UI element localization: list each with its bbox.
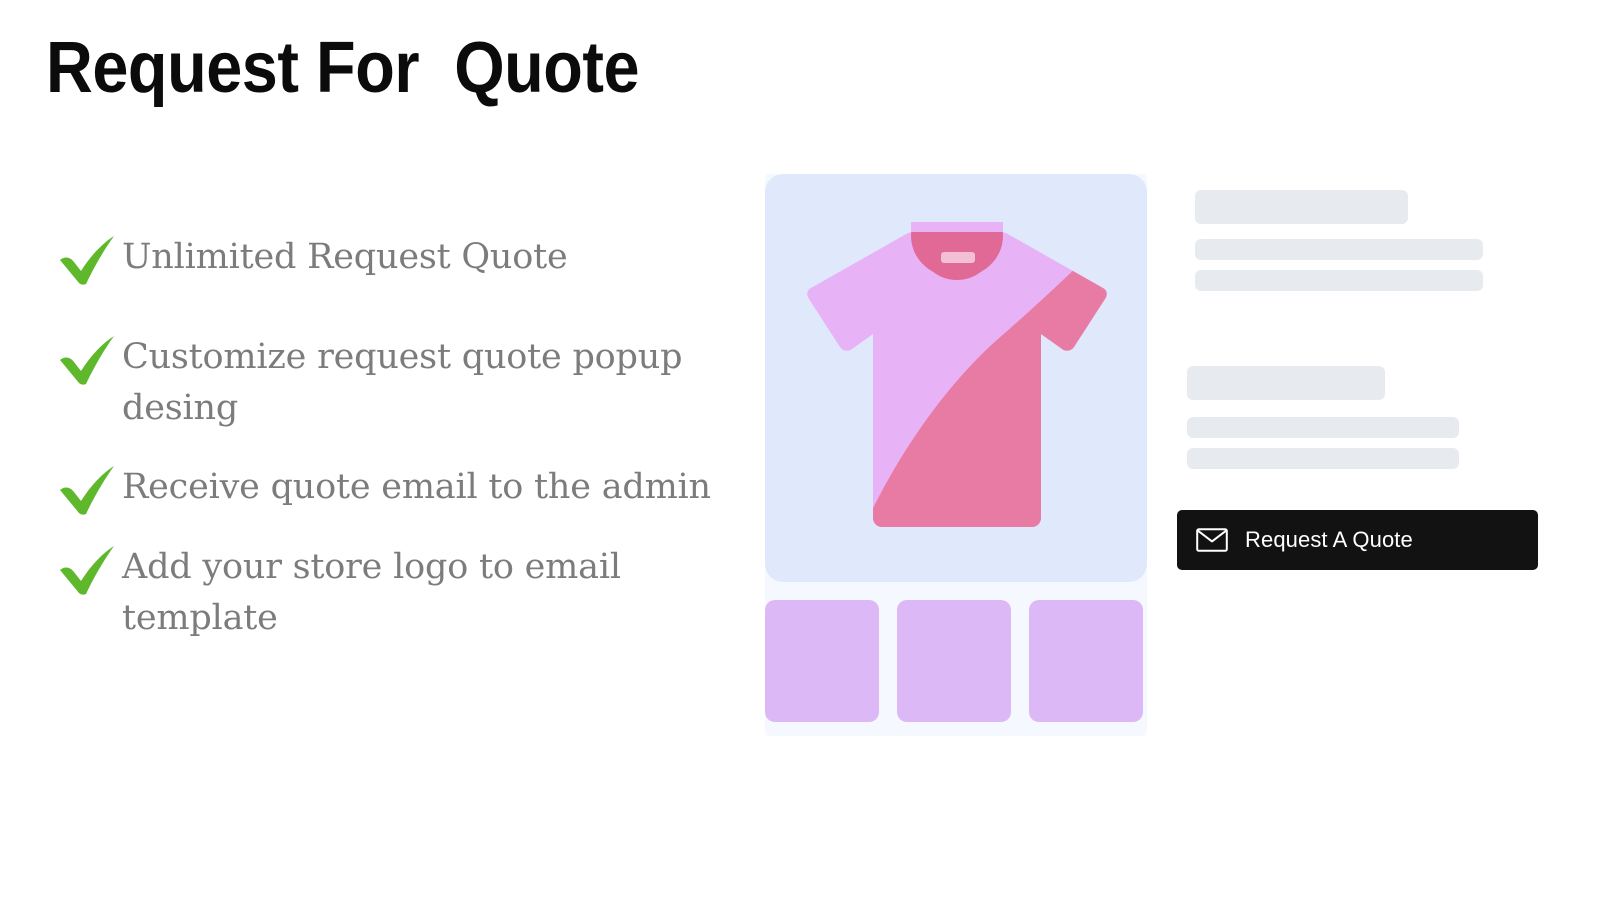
thumbnail-1[interactable] [765,600,879,722]
thumbnail-3[interactable] [1029,600,1143,722]
product-info-panel: Request A Quote [1177,174,1530,736]
request-a-quote-label: Request A Quote [1245,527,1413,553]
check-icon [56,234,118,286]
list-item-label: Unlimited Request Quote [118,232,567,283]
check-icon [56,544,118,596]
product-gallery [765,174,1147,736]
request-a-quote-button[interactable]: Request A Quote [1177,510,1538,570]
subtitle-placeholder [1187,366,1385,400]
text-line-placeholder-1 [1195,239,1483,260]
text-line-placeholder-2 [1195,270,1483,291]
check-icon [56,464,118,516]
text-line-placeholder-3 [1187,417,1459,438]
list-item: Unlimited Request Quote [56,232,776,286]
thumbnail-row [765,600,1147,722]
list-item: Add your store logo to email template [56,542,776,644]
thumbnail-2[interactable] [897,600,1011,722]
list-item: Customize request quote popup desing [56,332,776,434]
feature-list: Unlimited Request Quote Customize reques… [56,232,776,670]
list-item-label: Add your store logo to email template [118,542,762,644]
list-item-label: Receive quote email to the admin [118,462,711,513]
check-icon [56,334,118,386]
text-line-placeholder-4 [1187,448,1459,469]
product-card-mockup: Request A Quote [765,174,1530,736]
title-placeholder [1195,190,1408,224]
envelope-icon [1196,528,1228,552]
product-hero-image[interactable] [765,174,1147,582]
page-title: Request For Quote [46,22,639,114]
list-item-label: Customize request quote popup desing [118,332,762,434]
list-item: Receive quote email to the admin [56,462,776,516]
